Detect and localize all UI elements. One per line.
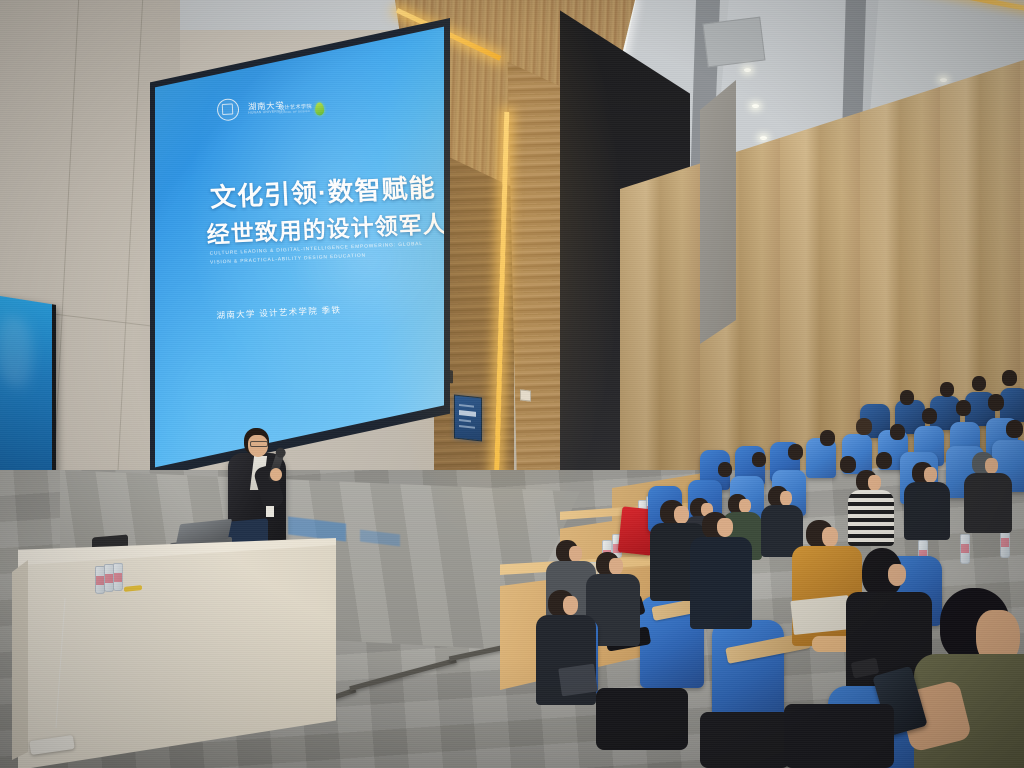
downlight	[760, 136, 767, 140]
university-seal-icon	[217, 98, 240, 121]
wall-mounted-display[interactable]	[0, 295, 56, 488]
bag	[700, 712, 790, 768]
notebook	[790, 595, 851, 635]
audience-head	[972, 376, 986, 391]
accent-floor-tile	[360, 530, 400, 547]
accent-floor-tile	[288, 516, 346, 541]
logo-secondary-sublabel: SCHOOL OF DESIGN	[279, 111, 312, 115]
speaker-badge	[266, 506, 274, 517]
audience-head	[890, 424, 905, 440]
wall-information-display[interactable]	[454, 395, 482, 442]
slide-content: 湖南大学 HUNAN UNIVERSITY 设计艺术学院 SCHOOL OF D…	[155, 24, 444, 470]
audience-head	[940, 382, 954, 397]
audience-head	[1006, 420, 1023, 438]
audience-head	[820, 430, 835, 446]
audience-head	[988, 394, 1004, 411]
audience-head	[1002, 370, 1017, 386]
laptop[interactable]	[558, 664, 598, 697]
audience-head	[752, 452, 766, 467]
wall-switch-panel[interactable]	[520, 389, 531, 401]
screen-glare	[0, 314, 32, 389]
backpack	[596, 688, 688, 750]
downlight	[744, 68, 751, 72]
logo-secondary-text: 设计艺术学院 SCHOOL OF DESIGN	[279, 105, 312, 115]
podium-side	[12, 560, 28, 760]
audience-head	[788, 444, 803, 460]
lecture-hall-photo: 湖南大学 HUNAN UNIVERSITY 设计艺术学院 SCHOOL OF D…	[0, 0, 1024, 768]
water-bottle[interactable]	[113, 563, 123, 591]
audience-head	[900, 390, 914, 405]
backpack	[784, 704, 894, 768]
downlight	[752, 104, 759, 108]
audience-head	[876, 452, 892, 469]
audience-head	[956, 400, 971, 416]
eyeglasses-icon	[250, 441, 268, 447]
ceiling-vent	[703, 17, 766, 68]
speaker-hand	[270, 468, 282, 481]
audience-head	[718, 462, 732, 477]
slide-logo-primary: 湖南大学 HUNAN UNIVERSITY	[217, 96, 286, 121]
slide-logo-secondary: 设计艺术学院 SCHOOL OF DESIGN	[279, 102, 324, 117]
downlight	[940, 78, 947, 82]
water-bottle[interactable]	[960, 534, 970, 564]
slide-presenter-credit: 湖南大学 设计艺术学院 季铁	[216, 304, 341, 322]
audience-head	[922, 408, 937, 424]
audience-head	[856, 418, 872, 435]
leaf-mark-icon	[315, 102, 325, 115]
projection-screen[interactable]: 湖南大学 HUNAN UNIVERSITY 设计艺术学院 SCHOOL OF D…	[155, 24, 444, 470]
audience-head	[840, 456, 856, 473]
